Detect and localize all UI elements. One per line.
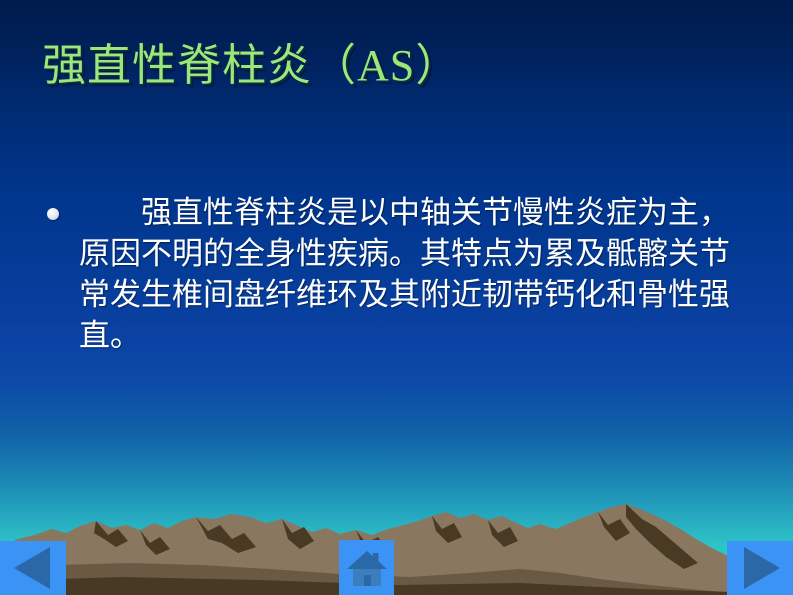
slide-body: 强直性脊柱炎是以中轴关节慢性炎症为主，原因不明的全身性疾病。其特点为累及骶髂关节…	[40, 192, 755, 356]
house-icon	[346, 548, 388, 588]
next-slide-button[interactable]	[727, 541, 793, 595]
mountain-decoration-image	[0, 495, 793, 595]
triangle-right-icon	[744, 547, 780, 589]
home-button[interactable]	[339, 540, 394, 595]
slide-title: 强直性脊柱炎（AS）	[42, 38, 742, 94]
bullet-point-icon	[47, 208, 59, 220]
presentation-slide: 强直性脊柱炎（AS） 强直性脊柱炎是以中轴关节慢性炎症为主，原因不明的全身性疾病…	[0, 0, 793, 595]
triangle-left-icon	[14, 547, 50, 589]
bullet-text: 强直性脊柱炎是以中轴关节慢性炎症为主，原因不明的全身性疾病。其特点为累及骶髂关节…	[79, 192, 755, 356]
previous-slide-button[interactable]	[0, 541, 66, 595]
